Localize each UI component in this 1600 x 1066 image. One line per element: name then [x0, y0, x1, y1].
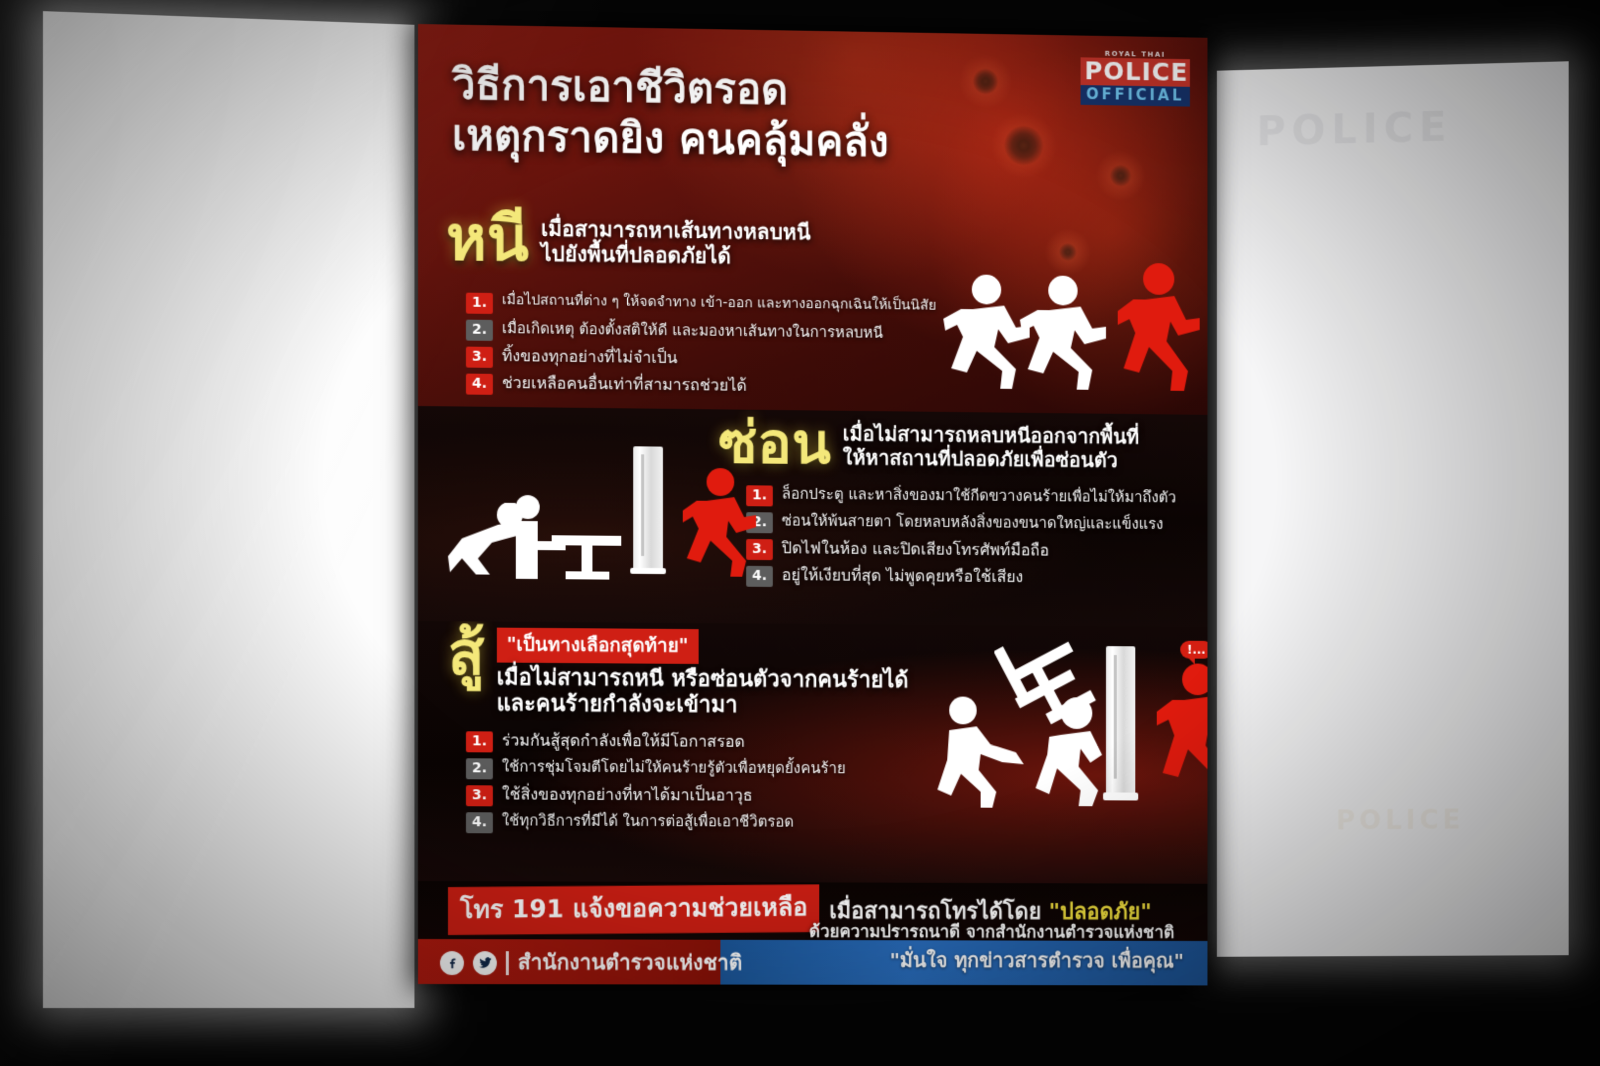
- fight-subtitle-line-2: และคนร้ายกำลังจะเข้ามา: [497, 691, 909, 719]
- list-number: 4.: [466, 812, 493, 833]
- page-title: วิธีการเอาชีวิตรอด เหตุกราดยิง คนคลุ้มคล…: [452, 59, 1085, 171]
- footer-slogan: "มั่นใจ ทุกข่าวสารตำรวจ เพื่อคุณ": [890, 944, 1184, 976]
- footer-divider: [506, 951, 509, 975]
- footer-organization: สำนักงานตำรวจแห่งชาติ: [518, 946, 743, 979]
- list-number: 2.: [466, 320, 493, 341]
- list-text: ใช้การชุ่มโจมตีโดยไม่ให้คนร้ายรู้ตัวเพื่…: [502, 758, 846, 776]
- list-item: 1. ล็อกประตู และหาสิ่งของมาใช้กีดขวางคนร…: [746, 485, 1207, 510]
- list-item: 4. อยู่ให้เงียบที่สุด ไม่พูดคุยหรือใช้เส…: [746, 566, 1207, 591]
- door-icon: [633, 446, 663, 574]
- section-footer: สำนักงานตำรวจแห่งชาติ "มั่นใจ ทุกข่าวสาร…: [418, 939, 1207, 985]
- left-white-panel: [43, 11, 415, 1008]
- list-item: 3. ปิดไฟในห้อง และปิดเสียงโทรศัพท์มือถือ: [746, 539, 1207, 564]
- pictogram-run-group: [943, 259, 1207, 401]
- list-item: 2. ใช้การชุ่มโจมตีโดยไม่ให้คนร้ายรู้ตัวเ…: [466, 758, 932, 781]
- section-run: วิธีการเอาชีวิตรอด เหตุกราดยิง คนคลุ้มคล…: [418, 24, 1207, 415]
- run-subtitle-line-2: ไปยังพื้นที่ปลอดภัยได้: [541, 241, 811, 269]
- list-item: 3. ใช้สิ่งของทุกอย่างที่หาได้มาเป็นอาวุธ: [466, 785, 932, 808]
- bullet-hole-decor: [1110, 165, 1131, 187]
- fight-heading: สู้ "เป็นทางเลือกสุดท้าย" เมื่อไม่สามารถ…: [448, 627, 908, 720]
- list-number: 4.: [466, 374, 493, 395]
- hide-heading: ซ่อน เมื่อไม่สามารถหลบหนีออกจากพื้นที่ ใ…: [718, 415, 1139, 474]
- title-line-2: เหตุกราดยิง คนคลุ้มคลั่ง: [452, 110, 1085, 171]
- section-hide: ซ่อน เมื่อไม่สามารถหลบหนีออกจากพื้นที่ ใ…: [418, 406, 1207, 627]
- list-text: ใช้สิ่งของทุกอย่างที่หาได้มาเป็นอาวุธ: [502, 785, 753, 804]
- list-item: 3. ทิ้งของทุกอย่างที่ไม่จำเป็น: [466, 347, 981, 374]
- projection-screen-photo: POLICE POLICE วิธีการเอาชีวิตรอด เหตุกรา…: [0, 0, 1600, 1066]
- fight-badge: "เป็นทางเลือกสุดท้าย": [497, 628, 699, 664]
- cta-subtext: ด้วยความปรารถนาดี จากสำนักงานตำรวจแห่งชา…: [809, 918, 1174, 941]
- fight-keyword: สู้: [448, 627, 485, 682]
- hide-item-list: 1. ล็อกประตู และหาสิ่งของมาใช้กีดขวางคนร…: [746, 485, 1207, 596]
- white-seated-figure-behind-table-icon: [506, 495, 625, 580]
- list-text: ใช้ทุกวิธีการที่มีได้ ในการต่อสู้เพื่อเอ…: [502, 812, 794, 830]
- panel-watermark-police: POLICE: [1257, 103, 1517, 229]
- panel-watermark-police-secondary: POLICE: [1336, 805, 1464, 836]
- list-item: 1. ร่วมกันสู้สุดกำลังเพื่อให้มีโอกาสรอด: [466, 731, 932, 755]
- list-item: 4. ใช้ทุกวิธีการที่มีได้ ในการต่อสู้เพื่…: [466, 812, 932, 835]
- list-text: ช่วยเหลือคนอื่นเท่าที่สามารถช่วยได้: [502, 374, 747, 394]
- list-number: 1.: [466, 731, 493, 752]
- list-text: เมื่อเกิดเหตุ ต้องตั้งสติให้ดี และมองหาเ…: [502, 320, 883, 341]
- white-running-figure-icon: [1020, 274, 1110, 392]
- infographic-poster: วิธีการเอาชีวิตรอด เหตุกราดยิง คนคลุ้มคล…: [418, 24, 1207, 985]
- list-text: ร่วมกันสู้สุดกำลังเพื่อให้มีโอกาสรอด: [502, 731, 745, 750]
- door-icon: [1106, 646, 1135, 800]
- emergency-number-banner: โทร 191 แจ้งขอความช่วยเหลือ: [448, 884, 820, 935]
- fight-subtitle-line-1: เมื่อไม่สามารถหนี หรือซ่อนตัวจากคนร้ายได…: [497, 666, 909, 695]
- list-item: 4. ช่วยเหลือคนอื่นเท่าที่สามารถช่วยได้: [466, 374, 981, 401]
- list-number: 3.: [466, 785, 493, 806]
- fight-item-list: 1. ร่วมกันสู้สุดกำลังเพื่อให้มีโอกาสรอด …: [466, 731, 932, 841]
- pictogram-hide-group: [448, 444, 726, 596]
- logo-main-text: POLICE: [1081, 57, 1190, 87]
- list-item: 2. เมื่อเกิดเหตุ ต้องตั้งสติให้ดี และมอง…: [466, 320, 981, 347]
- facebook-icon[interactable]: [440, 951, 464, 975]
- red-gunman-figure-icon: [1157, 662, 1208, 797]
- hide-keyword: ซ่อน: [718, 415, 831, 471]
- red-gunman-figure-icon: [683, 467, 758, 579]
- royal-thai-police-logo: ROYAL THAI POLICE OFFICIAL: [1081, 49, 1190, 106]
- red-gunman-figure-icon: [1118, 262, 1202, 393]
- speech-bubble-icon: !...: [1180, 641, 1207, 659]
- hide-subtitle-line-2: ให้หาสถานที่ปลอดภัยเพื่อซ่อนตัว: [843, 446, 1139, 472]
- white-figure-with-chair-icon: [994, 639, 1117, 806]
- list-text: ซ่อนให้พ้นสายตา โดยหลบหลังสิ่งของขนาดใหญ…: [782, 512, 1164, 532]
- run-subtitle-line-1: เมื่อสามารถหาเส้นทางหลบหนี: [541, 217, 811, 245]
- list-text: อยู่ให้เงียบที่สุด ไม่พูดคุยหรือใช้เสียง: [782, 566, 1023, 586]
- list-item: 1. เมื่อไปสถานที่ต่าง ๆ ให้จดจำทาง เข้า-…: [466, 293, 981, 321]
- bullet-hole-decor: [1059, 243, 1077, 261]
- logo-sub-text: OFFICIAL: [1081, 85, 1190, 106]
- list-number: 1.: [466, 293, 493, 314]
- list-text: ทิ้งของทุกอย่างที่ไม่จำเป็น: [502, 347, 678, 367]
- list-item: 2. ซ่อนให้พ้นสายตา โดยหลบหลังสิ่งของขนาด…: [746, 512, 1207, 537]
- list-text: เมื่อไปสถานที่ต่าง ๆ ให้จดจำทาง เข้า-ออก…: [502, 293, 936, 314]
- right-white-panel: POLICE POLICE: [1217, 61, 1569, 957]
- list-number: 2.: [466, 758, 493, 779]
- section-fight: สู้ "เป็นทางเลือกสุดท้าย" เมื่อไม่สามารถ…: [418, 621, 1207, 884]
- list-number: 3.: [466, 347, 493, 368]
- pictogram-fight-group: !...: [933, 639, 1207, 809]
- section-call-to-action: โทร 191 แจ้งขอความช่วยเหลือ เมื่อสามารถโ…: [418, 881, 1207, 941]
- footer-social-group: สำนักงานตำรวจแห่งชาติ: [440, 946, 742, 980]
- run-keyword: หนี: [446, 209, 529, 267]
- run-item-list: 1. เมื่อไปสถานที่ต่าง ๆ ให้จดจำทาง เข้า-…: [466, 293, 981, 407]
- list-text: ล็อกประตู และหาสิ่งของมาใช้กีดขวางคนร้าย…: [782, 486, 1176, 506]
- run-heading: หนี เมื่อสามารถหาเส้นทางหลบหนี ไปยังพื้น…: [446, 209, 811, 271]
- twitter-icon[interactable]: [473, 951, 497, 975]
- list-text: ปิดไฟในห้อง และปิดเสียงโทรศัพท์มือถือ: [782, 539, 1049, 559]
